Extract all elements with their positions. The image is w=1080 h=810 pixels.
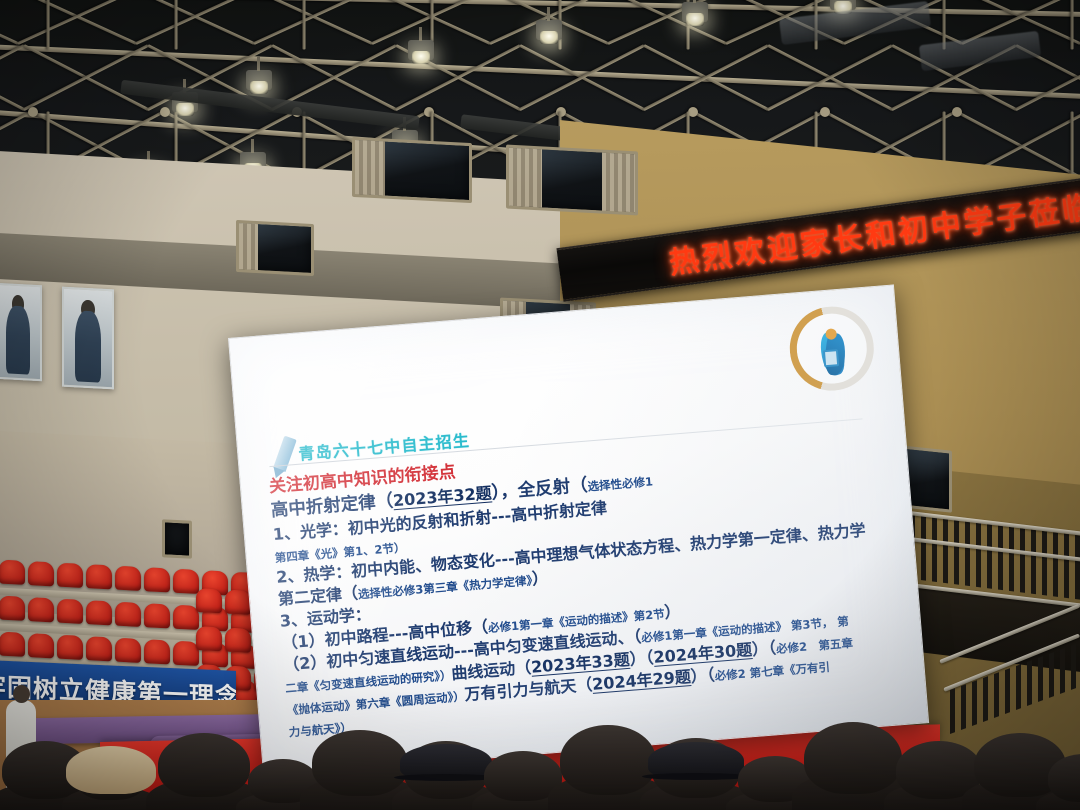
stadium-seat <box>115 602 141 627</box>
lamp-glow <box>540 31 558 44</box>
audience-head <box>312 730 408 796</box>
lamp-stem <box>547 7 550 21</box>
window-curtain <box>239 223 258 270</box>
stadium-seat <box>86 564 112 589</box>
stadium-seat <box>144 603 170 628</box>
truss-bar <box>17 0 136 45</box>
lamp-stem <box>251 139 254 153</box>
school-logo <box>787 303 877 393</box>
ceiling-spotlight <box>408 40 434 60</box>
window-upper-right <box>506 145 638 216</box>
person-head <box>13 685 30 703</box>
truss-bar <box>1071 112 1074 180</box>
stadium-seat <box>0 560 25 585</box>
ceiling-spotlight <box>830 0 856 10</box>
window-upper-center <box>352 137 472 203</box>
ceiling-spotlight <box>246 70 272 90</box>
stadium-seat <box>57 599 83 624</box>
stadium-seat <box>86 600 112 625</box>
stadium-seat <box>115 566 141 591</box>
truss-bar <box>135 0 254 45</box>
stadium-seat <box>28 561 54 586</box>
poster-figure <box>6 306 31 375</box>
athlete-poster-right <box>62 287 114 390</box>
stadium-seat <box>0 632 25 657</box>
truss-node <box>820 107 830 117</box>
athlete-poster-left <box>0 283 42 382</box>
stadium-seat <box>86 636 112 661</box>
stadium-seat <box>28 633 54 658</box>
slide-header-title: 青岛六十七中自主招生 <box>297 427 470 465</box>
stadium-seat <box>28 597 54 622</box>
ceiling-spotlight <box>682 2 708 22</box>
audience-silhouettes <box>0 706 1080 810</box>
logo-book-icon <box>823 349 839 367</box>
lamp-glow <box>250 81 268 94</box>
truss-node <box>688 107 698 117</box>
stadium-seat <box>115 638 141 663</box>
lamp-stem <box>257 57 260 71</box>
truss-node <box>160 107 170 117</box>
stadium-seat <box>225 590 251 615</box>
lamp-glow <box>176 103 194 116</box>
lamp-glow <box>412 51 430 64</box>
poster-figure <box>75 310 102 382</box>
projection-screen-container[interactable]: 青岛六十七中自主招生 关注初高中知识的衔接点高中折射定律（2023年32题），全… <box>228 284 929 776</box>
stadium-seat <box>225 628 251 653</box>
stadium-seat <box>57 563 83 588</box>
stadium-seat <box>196 626 222 651</box>
lamp-glow <box>686 13 704 26</box>
truss-bar <box>253 0 372 45</box>
window-curtain <box>509 148 542 208</box>
stadium-seat <box>144 567 170 592</box>
lamp-stem <box>693 0 696 3</box>
stadium-seat <box>196 588 222 613</box>
stadium-seat <box>0 596 25 621</box>
window-curtain <box>602 153 635 213</box>
slide-body-text: 关注初高中知识的衔接点高中折射定律（2023年32题），全反射（选择性必修11、… <box>268 428 919 745</box>
stadium-seat <box>57 635 83 660</box>
cap-brim <box>642 773 750 780</box>
audience-hat <box>66 746 156 794</box>
window-upper-left <box>236 220 314 276</box>
ceiling-spotlight <box>536 20 562 40</box>
projection-screen[interactable]: 青岛六十七中自主招生 关注初高中知识的衔接点高中折射定律（2023年32题），全… <box>228 284 929 776</box>
truss-bar <box>0 0 19 45</box>
stadium-seat <box>144 639 170 664</box>
audience-head <box>560 725 656 795</box>
truss-bar <box>47 0 50 50</box>
door-left <box>162 519 192 559</box>
truss-bar <box>253 0 372 45</box>
truss-bar <box>135 0 254 45</box>
pencil-icon <box>273 436 297 472</box>
truss-bar <box>17 0 136 45</box>
truss-bar <box>175 0 178 50</box>
truss-node <box>28 107 38 117</box>
truss-node <box>952 107 962 117</box>
audience-head <box>804 722 902 794</box>
window-curtain <box>355 140 385 196</box>
gymnasium-presentation-scene: 热烈欢迎家长和初中学子莅临我校参 牢固树立健康第一理念 <box>0 0 1080 810</box>
lamp-stem <box>419 27 422 41</box>
audience-head <box>158 733 250 797</box>
truss-bar <box>303 0 306 50</box>
truss-bar <box>1071 0 1074 50</box>
